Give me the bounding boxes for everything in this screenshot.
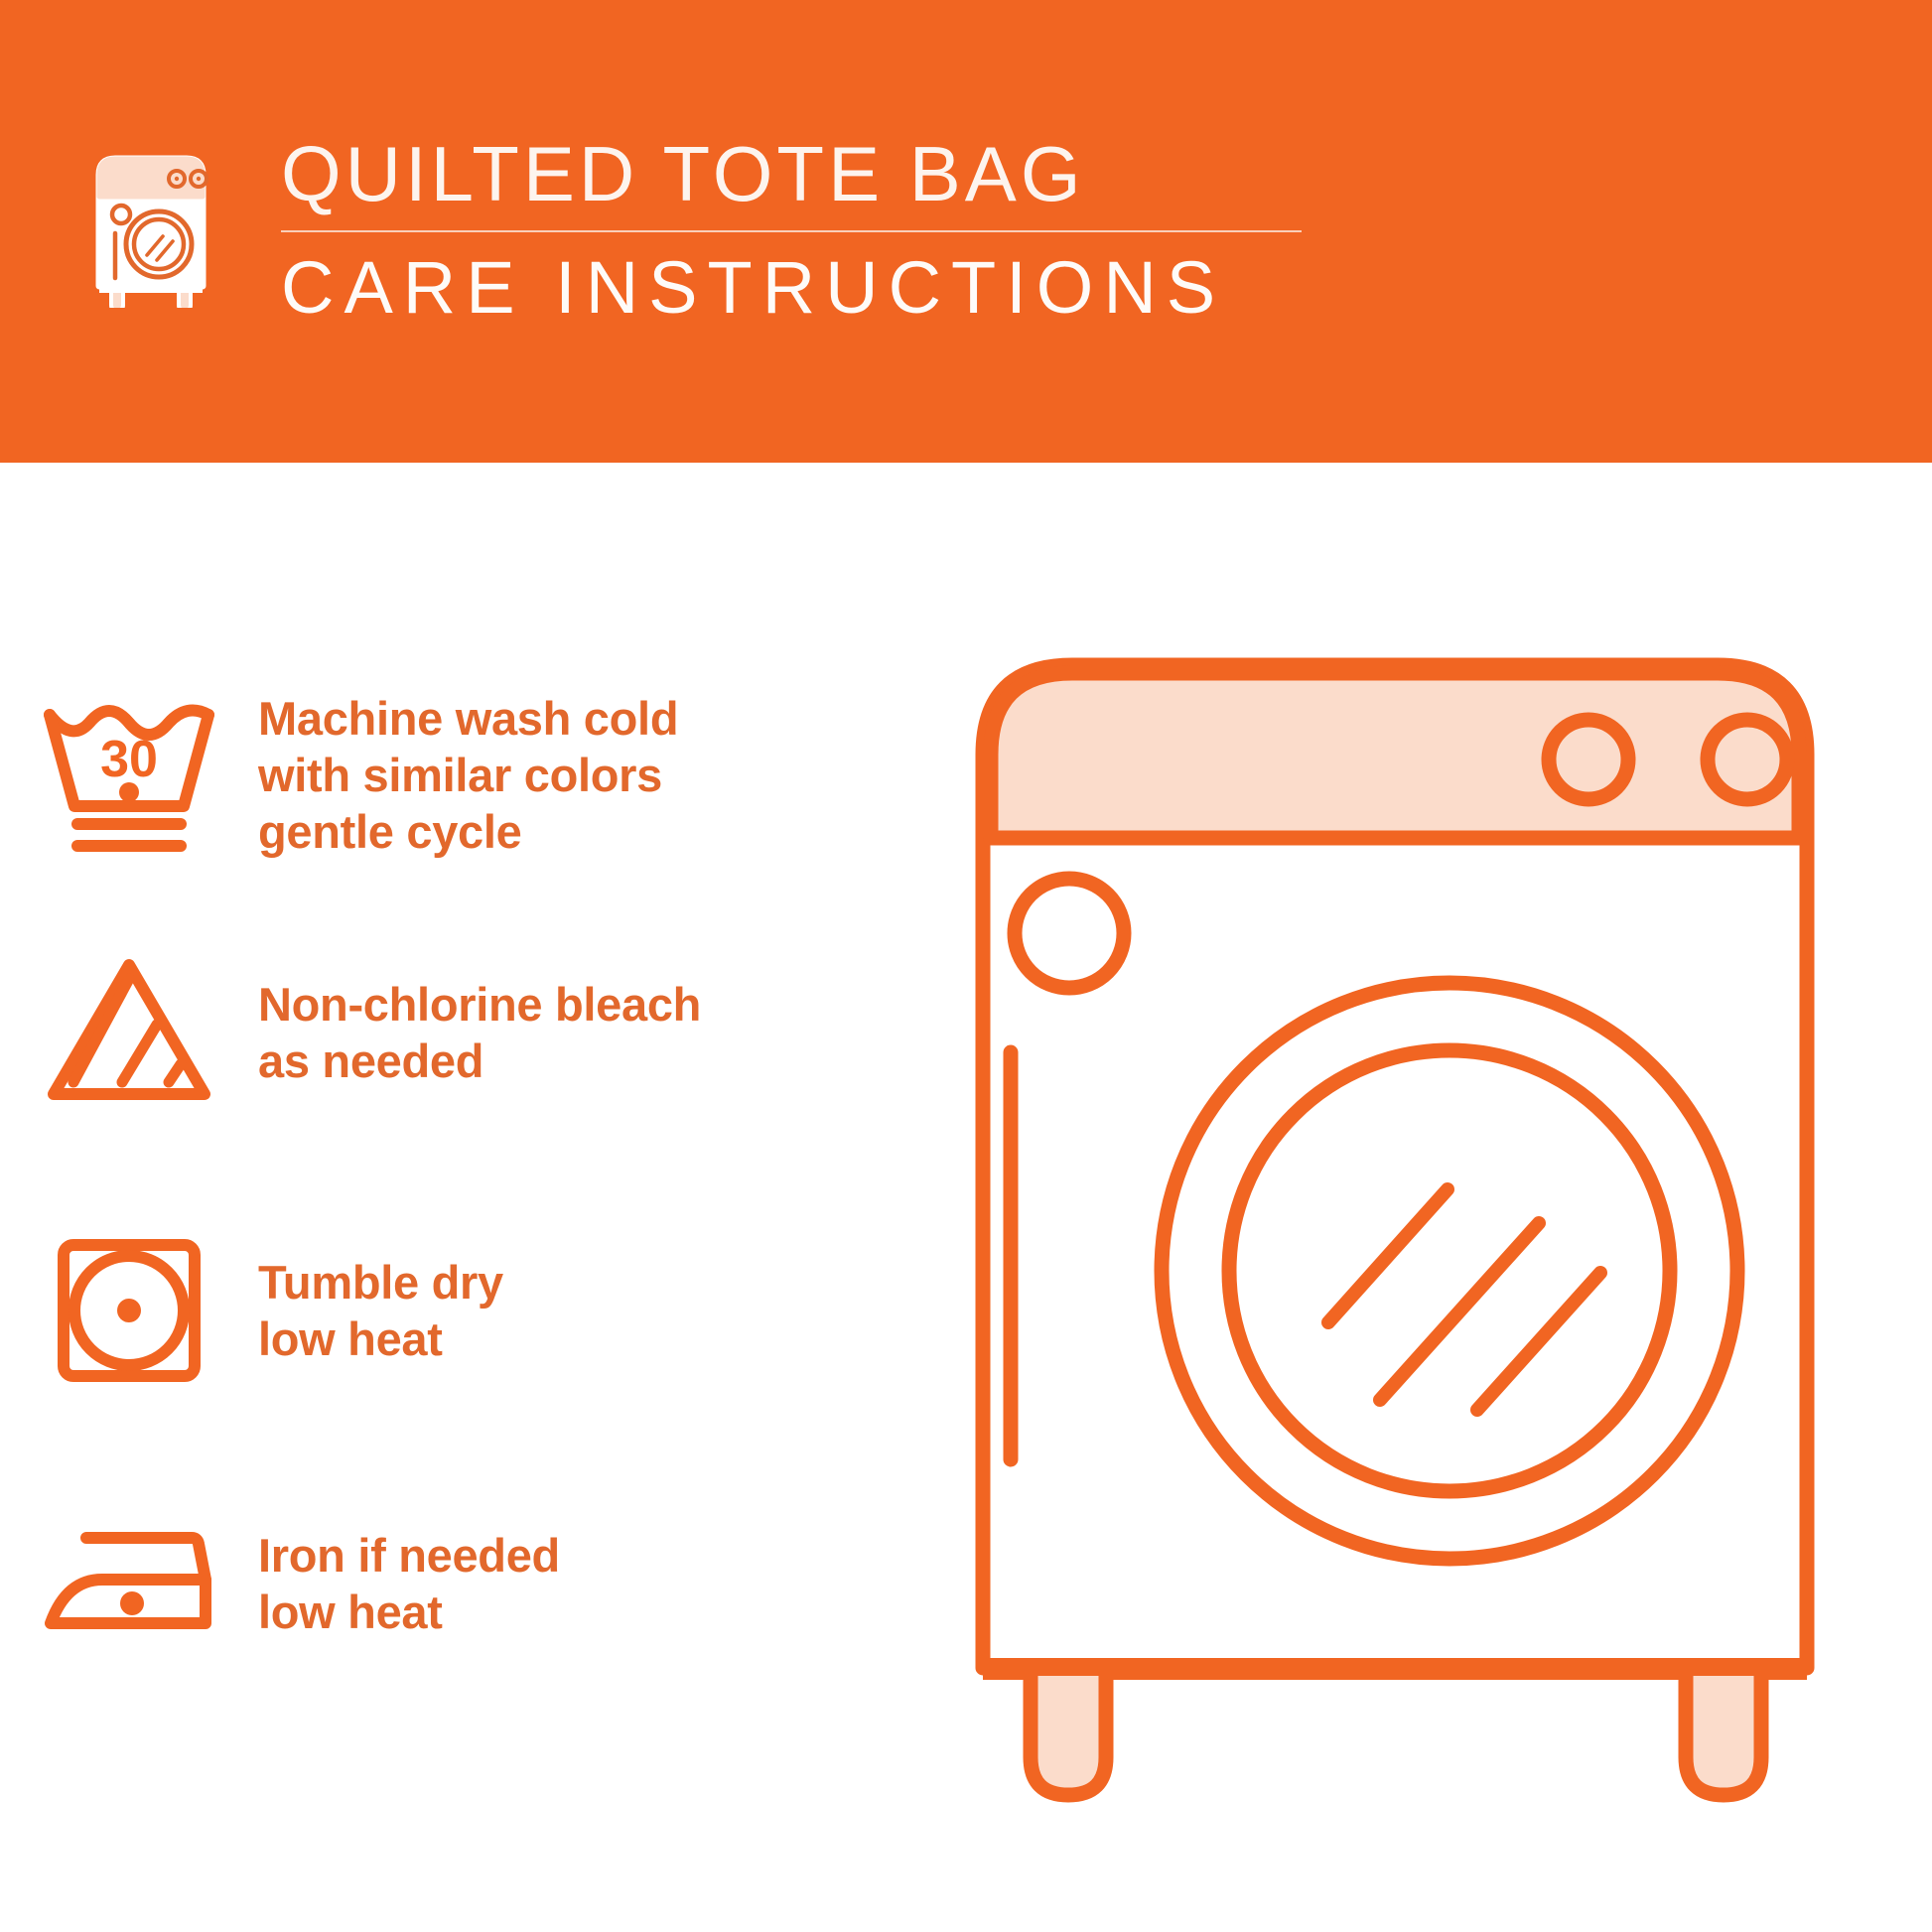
care-label-tumble-dry: Tumble dry low heat	[258, 1254, 503, 1367]
tumble-dry-low-icon	[0, 1211, 258, 1410]
page-subtitle: CARE INSTRUCTIONS	[281, 246, 1313, 330]
care-row-tumble-dry: Tumble dry low heat	[0, 1211, 953, 1410]
care-row-iron: Iron if needed low heat	[0, 1484, 953, 1683]
care-row-bleach: Non-chlorine bleach as needed	[0, 933, 953, 1132]
control-panel	[991, 673, 1799, 838]
washing-machine-icon	[81, 139, 220, 308]
care-label-bleach: Non-chlorine bleach as needed	[258, 976, 701, 1089]
care-row-machine-wash: 30 Machine wash cold with similar colors…	[0, 675, 953, 874]
header-text-block: QUILTED TOTE BAG CARE INSTRUCTIONS	[281, 129, 1313, 330]
page-title: QUILTED TOTE BAG	[281, 129, 1313, 218]
header-banner: QUILTED TOTE BAG CARE INSTRUCTIONS	[0, 0, 1932, 463]
wash-tub-30-gentle-icon: 30	[0, 675, 258, 874]
title-divider	[281, 230, 1302, 232]
care-label-machine-wash: Machine wash cold with similar colors ge…	[258, 690, 678, 860]
washing-machine-illustration	[953, 616, 1906, 1857]
non-chlorine-bleach-triangle-icon	[0, 933, 258, 1132]
wash-temp-value: 30	[100, 731, 158, 788]
knob-left	[1549, 720, 1628, 799]
iron-low-heat-icon	[0, 1484, 258, 1683]
leg-right	[1686, 1676, 1761, 1795]
leg-left	[1031, 1676, 1106, 1795]
care-label-iron: Iron if needed low heat	[258, 1527, 560, 1640]
knob-right	[1708, 720, 1787, 799]
